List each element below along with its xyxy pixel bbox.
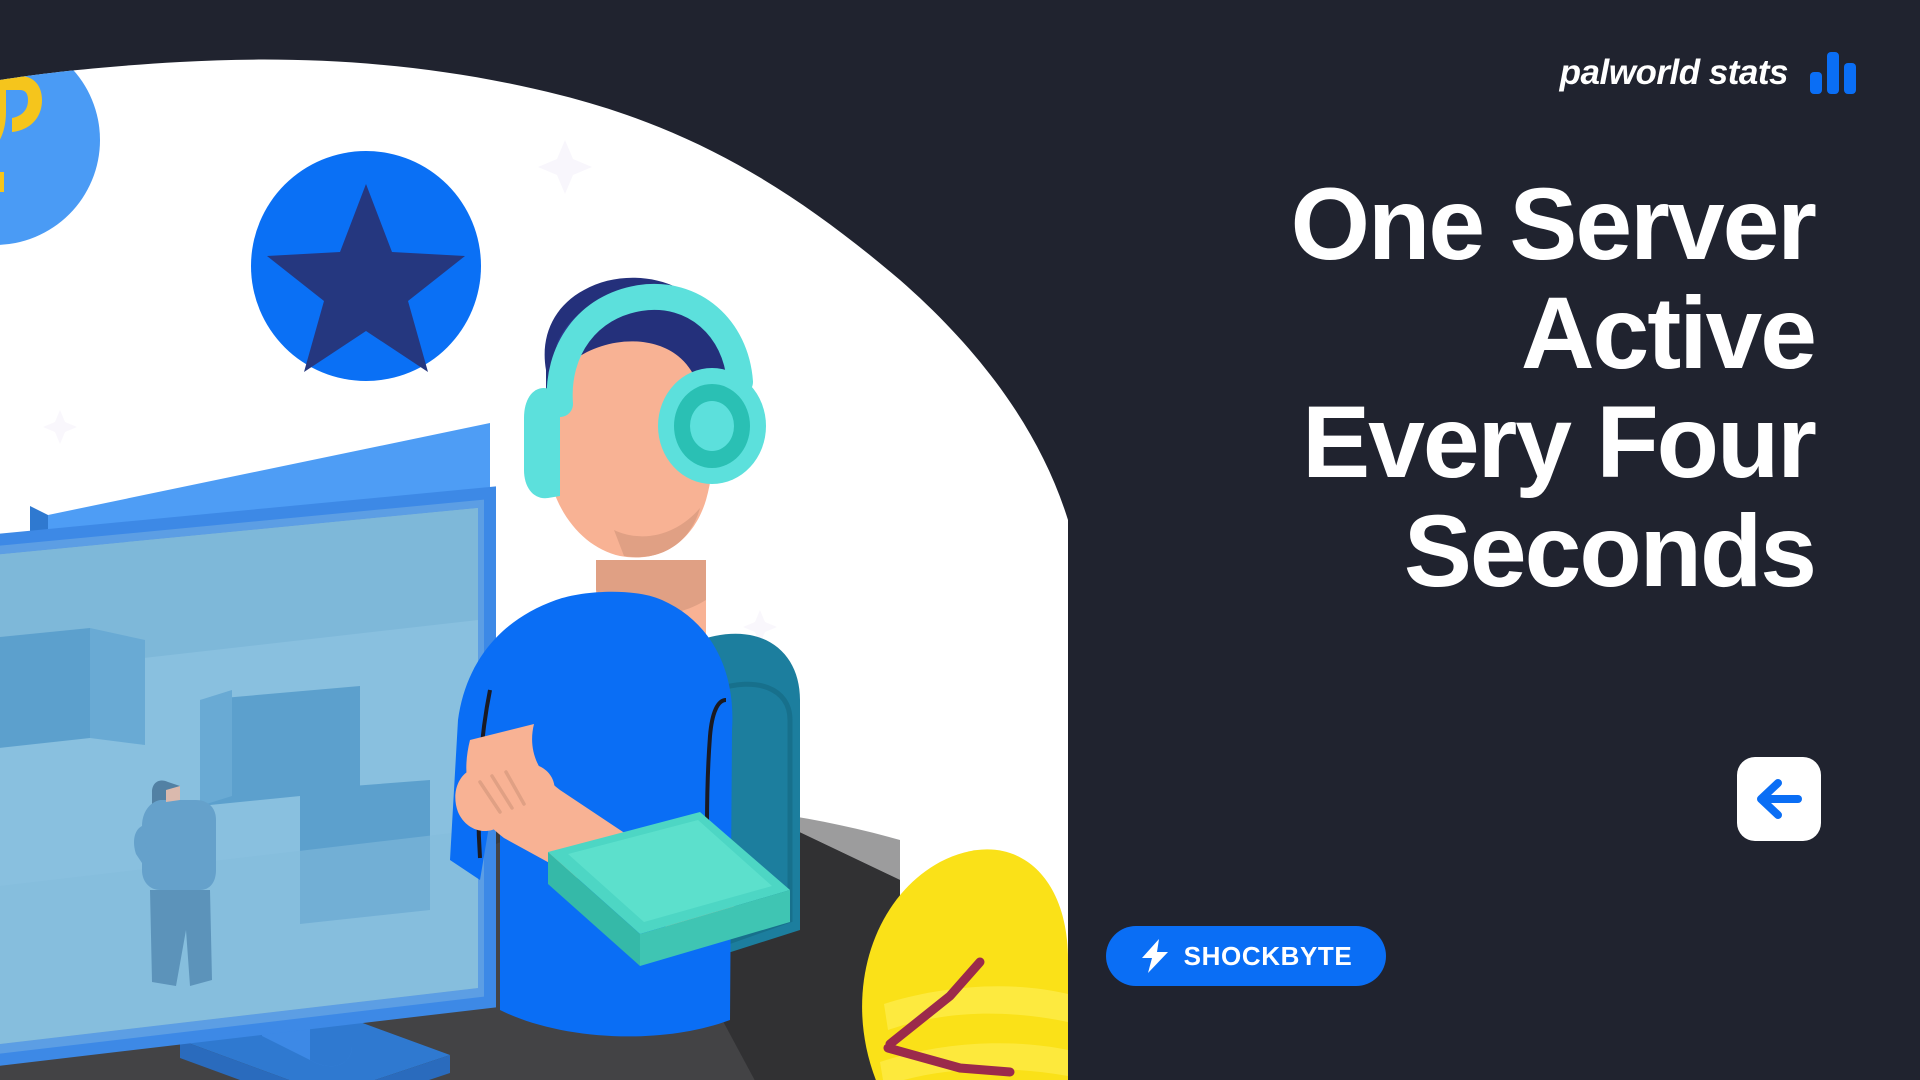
content-panel: palworld stats One Server Active Every F… — [1080, 0, 1920, 1080]
brand-logo[interactable]: palworld stats — [1560, 52, 1856, 94]
gamer-at-desk-illustration — [0, 0, 1080, 1080]
star-badge-circle — [251, 151, 481, 381]
sponsor-label: SHOCKBYTE — [1184, 941, 1353, 972]
headline-line-2: Active — [1135, 279, 1815, 388]
headline-line-4: Seconds — [1135, 497, 1815, 606]
back-button[interactable] — [1737, 757, 1821, 841]
sponsor-button[interactable]: SHOCKBYTE — [1106, 926, 1386, 986]
arrow-left-icon — [1754, 777, 1804, 821]
page-title: One Server Active Every Four Seconds — [1135, 170, 1815, 607]
monitor — [0, 423, 490, 1080]
headline-line-1: One Server — [1135, 170, 1815, 279]
lightning-bolt-icon — [1140, 939, 1170, 973]
headline-line-3: Every Four — [1135, 388, 1815, 497]
logo-text: palworld stats — [1560, 53, 1788, 93]
bar-chart-icon — [1810, 52, 1856, 94]
poster-canvas: palworld stats One Server Active Every F… — [0, 0, 1920, 1080]
